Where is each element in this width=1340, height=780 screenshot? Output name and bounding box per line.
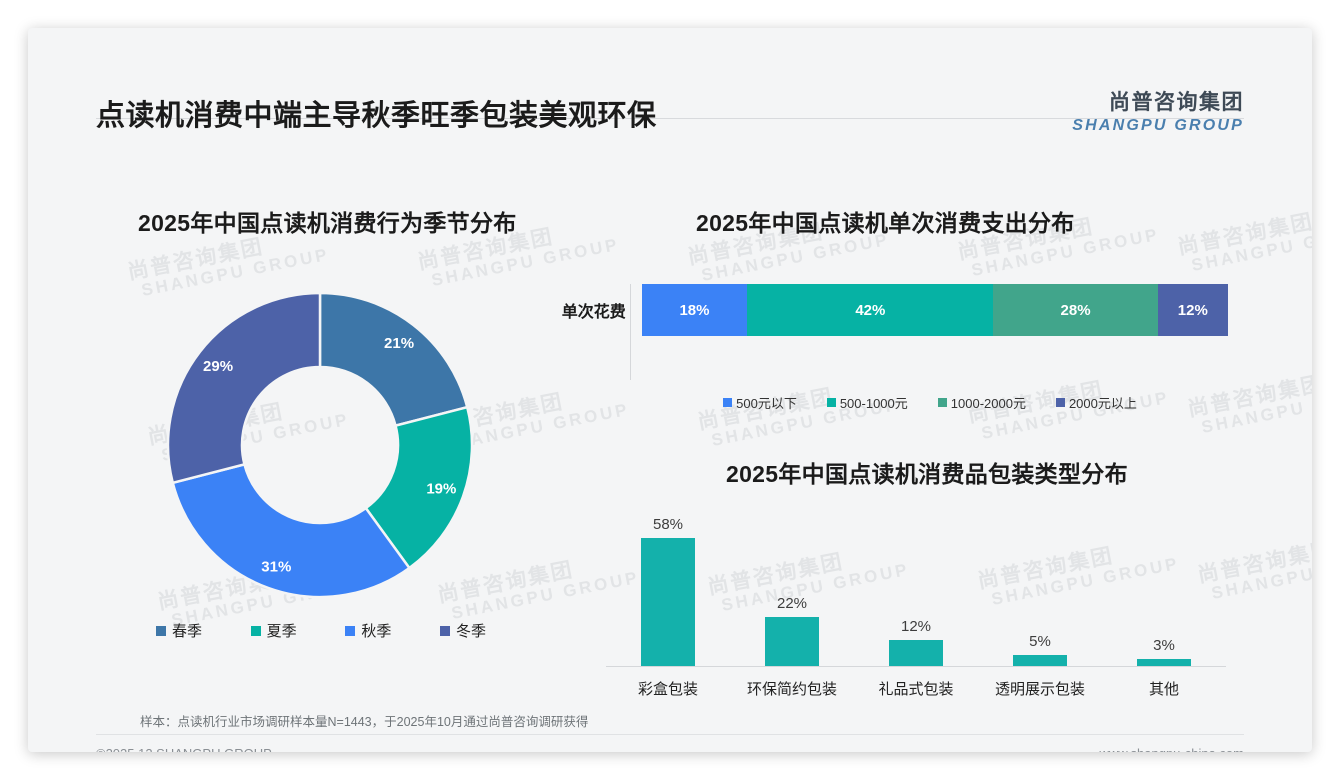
bar-category-label: 彩盒包装 <box>606 678 730 699</box>
bar-value-label: 5% <box>1029 633 1051 650</box>
legend-swatch-icon <box>1056 398 1065 407</box>
stacked-bar-segment[interactable]: 12% <box>1158 284 1228 336</box>
bar-rect[interactable] <box>765 617 819 666</box>
legend-label: 500-1000元 <box>840 393 908 412</box>
chart-title-seasonal: 2025年中国点读机消费行为季节分布 <box>138 204 517 238</box>
chart-title-spend: 2025年中国点读机单次消费支出分布 <box>696 204 1075 238</box>
stacked-chart-legend: 500元以下500-1000元1000-2000元2000元以上 <box>640 393 1220 412</box>
stacked-bar-chart: 单次花费 18%42%28%12% <box>528 284 1228 336</box>
legend-swatch-icon <box>156 626 166 636</box>
legend-swatch-icon <box>827 398 836 407</box>
bar-category-label: 透明展示包装 <box>978 678 1102 699</box>
stacked-bar-segment[interactable]: 18% <box>642 284 748 336</box>
watermark-cn: 尚普咨询集团 <box>1176 199 1312 259</box>
bar-chart-packaging: 58%22%12%5%3% <box>606 514 1226 666</box>
slide-canvas: 尚普咨询集团 SHANGPU GROUP 尚普咨询集团 SHANGPU GROU… <box>28 28 1312 752</box>
bar-chart-plot: 58%22%12%5%3% <box>606 514 1226 666</box>
legend-item[interactable]: 春季 <box>156 620 202 641</box>
legend-label: 500元以下 <box>736 393 797 412</box>
watermark-cn: 尚普咨询集团 <box>1186 361 1312 421</box>
stacked-bar-track: 18%42%28%12% <box>642 284 1228 336</box>
bar-column[interactable]: 12% <box>854 514 978 666</box>
bar-chart-baseline <box>606 666 1226 667</box>
donut-slice-label: 31% <box>261 558 291 575</box>
bar-value-label: 22% <box>777 595 807 612</box>
donut-slice[interactable] <box>320 293 467 426</box>
bar-rect[interactable] <box>889 640 943 666</box>
footer-website: www.shangpu-china.com <box>1099 746 1244 752</box>
bar-column[interactable]: 22% <box>730 514 854 666</box>
donut-slice-label: 29% <box>203 358 233 375</box>
donut-chart-svg: 21%19%31%29% <box>156 281 484 609</box>
donut-slice[interactable] <box>168 293 320 483</box>
watermark-tile: 尚普咨询集团 SHANGPU GROUP <box>1176 199 1312 277</box>
bar-chart-x-axis: 彩盒包装环保简约包装礼品式包装透明展示包装其他 <box>606 678 1226 699</box>
logo-en-text: SHANGPU GROUP <box>1072 117 1244 135</box>
bar-rect[interactable] <box>1013 655 1067 666</box>
bar-column[interactable]: 3% <box>1102 514 1226 666</box>
legend-swatch-icon <box>440 626 450 636</box>
legend-item[interactable]: 冬季 <box>440 620 486 641</box>
slide-header: 点读机消费中端主导秋季旺季包装美观环保 尚普咨询集团 SHANGPU GROUP <box>28 28 1312 118</box>
donut-slice-label: 19% <box>426 481 456 498</box>
footer-divider <box>96 734 1244 735</box>
watermark-en: SHANGPU GROUP <box>1190 221 1312 275</box>
legend-swatch-icon <box>345 626 355 636</box>
legend-item[interactable]: 500元以下 <box>723 393 797 412</box>
legend-label: 秋季 <box>361 620 391 641</box>
bar-category-label: 环保简约包装 <box>730 678 854 699</box>
stacked-bar-segment[interactable]: 28% <box>993 284 1157 336</box>
logo-cn-text: 尚普咨询集团 <box>1072 86 1244 116</box>
legend-swatch-icon <box>938 398 947 407</box>
legend-label: 春季 <box>172 620 202 641</box>
page-title: 点读机消费中端主导秋季旺季包装美观环保 <box>96 92 657 134</box>
slide-page: 尚普咨询集团 SHANGPU GROUP 尚普咨询集团 SHANGPU GROU… <box>0 0 1340 780</box>
legend-item[interactable]: 夏季 <box>251 620 297 641</box>
legend-item[interactable]: 2000元以上 <box>1056 393 1137 412</box>
bar-category-label: 其他 <box>1102 678 1226 699</box>
bar-value-label: 58% <box>653 516 683 533</box>
footer-copyright: ©2025.12 SHANGPU GROUP <box>96 746 272 752</box>
legend-swatch-icon <box>723 398 732 407</box>
brand-logo: 尚普咨询集团 SHANGPU GROUP <box>1072 86 1244 135</box>
legend-label: 1000-2000元 <box>951 393 1026 412</box>
legend-label: 2000元以上 <box>1069 393 1137 412</box>
donut-chart-seasonal: 21%19%31%29% <box>156 281 484 609</box>
watermark-en: SHANGPU GROUP <box>700 231 891 285</box>
sample-note: 样本：点读机行业市场调研样本量N=1443，于2025年10月通过尚普咨询调研获… <box>140 711 588 730</box>
bar-value-label: 12% <box>901 618 931 635</box>
donut-slice-label: 21% <box>384 335 414 352</box>
bar-category-label: 礼品式包装 <box>854 678 978 699</box>
legend-item[interactable]: 1000-2000元 <box>938 393 1026 412</box>
chart-title-packaging: 2025年中国点读机消费品包装类型分布 <box>726 455 1128 489</box>
stacked-bar-category-label: 单次花费 <box>528 298 642 322</box>
legend-label: 冬季 <box>456 620 486 641</box>
stacked-bar-segment[interactable]: 42% <box>747 284 993 336</box>
bar-rect[interactable] <box>1137 659 1191 666</box>
legend-item[interactable]: 500-1000元 <box>827 393 908 412</box>
watermark-tile: 尚普咨询集团 SHANGPU GROUP <box>696 374 901 452</box>
bar-rect[interactable] <box>641 538 695 666</box>
bar-value-label: 3% <box>1153 637 1175 654</box>
donut-slice[interactable] <box>173 464 410 597</box>
legend-label: 夏季 <box>267 620 297 641</box>
donut-chart-legend: 春季夏季秋季冬季 <box>156 620 486 641</box>
stacked-bar-row: 单次花费 18%42%28%12% <box>528 284 1228 336</box>
bar-column[interactable]: 5% <box>978 514 1102 666</box>
legend-swatch-icon <box>251 626 261 636</box>
legend-item[interactable]: 秋季 <box>345 620 391 641</box>
bar-column[interactable]: 58% <box>606 514 730 666</box>
